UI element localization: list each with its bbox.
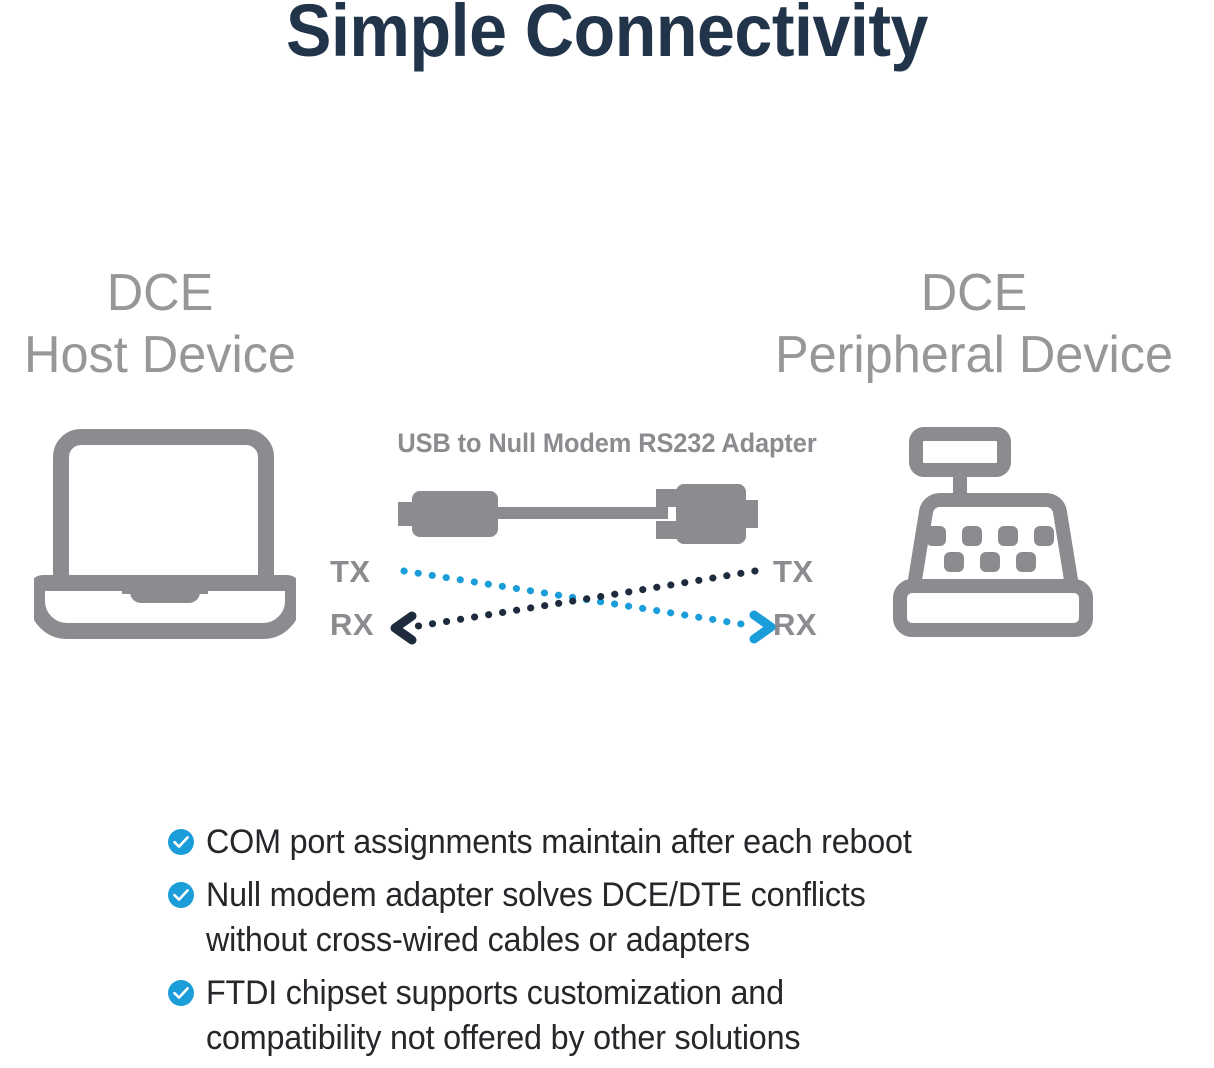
check-circle-icon xyxy=(168,980,194,1006)
page-title: Simple Connectivity xyxy=(49,0,1166,70)
usb-to-db9-cable-icon xyxy=(398,482,758,546)
signal-label-right-tx: TX xyxy=(773,554,814,589)
list-item: FTDI chipset supports customization and … xyxy=(168,971,1068,1061)
list-item: COM port assignments maintain after each… xyxy=(168,820,1068,865)
check-circle-icon xyxy=(168,882,194,908)
signal-label-right-rx: RX xyxy=(773,607,817,642)
peripheral-caption-line-2: Peripheral Device xyxy=(741,324,1207,386)
host-caption-line-1: DCE xyxy=(5,262,315,324)
host-device-caption: DCE Host Device xyxy=(5,262,315,387)
signal-arrow-left-dark xyxy=(395,616,412,640)
list-item: Null modem adapter solves DCE/DTE confli… xyxy=(168,873,1068,963)
list-item-label: COM port assignments maintain after each… xyxy=(206,820,912,865)
laptop-icon xyxy=(34,428,296,640)
list-item-label: Null modem adapter solves DCE/DTE confli… xyxy=(206,873,866,963)
peripheral-device-caption: DCE Peripheral Device xyxy=(741,262,1207,387)
list-item-label: FTDI chipset supports customization and … xyxy=(206,971,800,1061)
feature-list: COM port assignments maintain after each… xyxy=(168,820,1068,1068)
host-caption-line-2: Host Device xyxy=(5,324,315,386)
signal-label-left-tx: TX xyxy=(330,554,371,589)
peripheral-caption-line-1: DCE xyxy=(741,262,1207,324)
signal-arrow-right-blue xyxy=(754,615,771,639)
check-circle-icon xyxy=(168,829,194,855)
signal-label-left-rx: RX xyxy=(330,607,374,642)
adapter-title: USB to Null Modem RS232 Adapter xyxy=(36,428,1177,459)
signal-crossover-diagram: TX RX TX RX xyxy=(330,548,840,652)
